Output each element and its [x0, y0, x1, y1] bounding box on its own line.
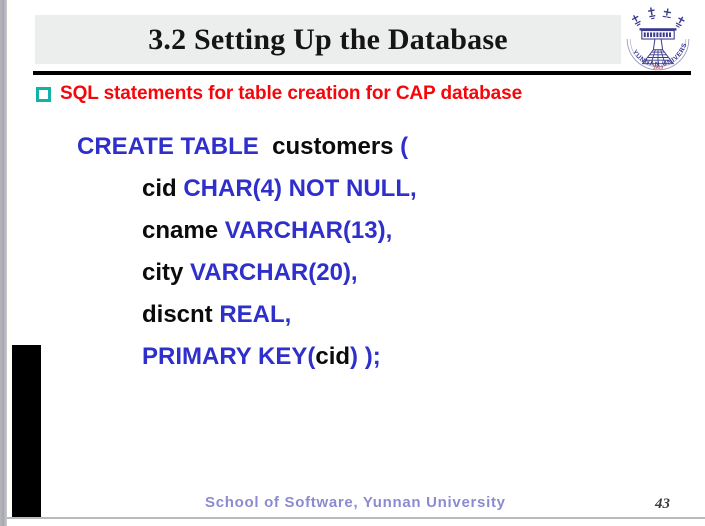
- subtitle-row: SQL statements for table creation for CA…: [36, 81, 522, 107]
- title-divider-rule: [33, 71, 691, 75]
- sql-code-block: CREATE TABLE customers (cid CHAR(4) NOT …: [0, 126, 705, 378]
- sql-identifier-token: city: [142, 259, 190, 286]
- sql-identifier-token: customers: [259, 133, 400, 160]
- sql-code-line: cname VARCHAR(13),: [0, 210, 705, 252]
- hollow-square-bullet-icon: [36, 87, 51, 102]
- sql-code-line: cid CHAR(4) NOT NULL,: [0, 168, 705, 210]
- sql-code-line: PRIMARY KEY(cid) );: [0, 336, 705, 378]
- yunnan-university-seal-icon: 1923 YUNNAN UNIVERSITY: [619, 2, 697, 76]
- sql-code-line: city VARCHAR(20),: [0, 252, 705, 294]
- sql-code-line: CREATE TABLE customers (: [0, 126, 705, 168]
- sql-keyword-token: PRIMARY KEY(: [142, 343, 315, 370]
- slide-bottom-margin: [7, 519, 705, 526]
- decorative-black-block: [12, 345, 41, 518]
- sql-keyword-token: CREATE TABLE: [77, 133, 259, 160]
- sql-identifier-token: cid: [315, 343, 350, 370]
- slide-canvas: 3.2 Setting Up the Database: [0, 0, 705, 526]
- sql-identifier-token: cid: [142, 175, 183, 202]
- subtitle-text: SQL statements for table creation for CA…: [60, 83, 522, 105]
- sql-keyword-token: REAL,: [219, 301, 291, 328]
- sql-keyword-token: VARCHAR(13),: [225, 217, 393, 244]
- sql-keyword-token: (: [400, 133, 408, 160]
- page-title: 3.2 Setting Up the Database: [35, 18, 621, 62]
- footer-organization-label: School of Software, Yunnan University: [205, 494, 506, 511]
- slide-page-number: 43: [655, 496, 670, 513]
- sql-keyword-token: CHAR(4) NOT NULL,: [183, 175, 416, 202]
- sql-code-line: discnt REAL,: [0, 294, 705, 336]
- sql-identifier-token: cname: [142, 217, 225, 244]
- sql-keyword-token: VARCHAR(20),: [190, 259, 358, 286]
- sql-identifier-token: discnt: [142, 301, 219, 328]
- sql-keyword-token: ) );: [350, 343, 381, 370]
